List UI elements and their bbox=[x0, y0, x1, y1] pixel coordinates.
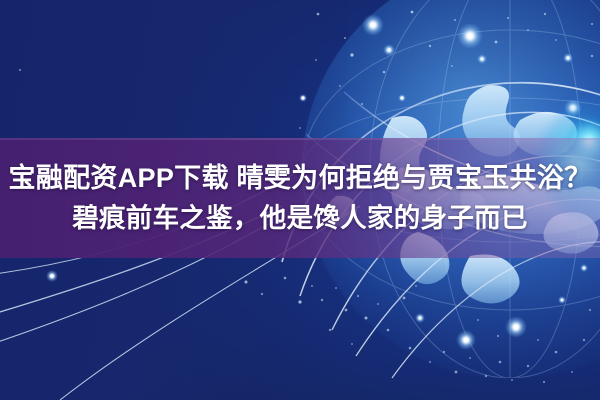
headline-line-2: 碧痕前车之鉴，他是馋人家的身子而已 bbox=[0, 198, 600, 238]
headline-line-1: 宝融配资APP下载 晴雯为何拒绝与贾宝玉共浴？ bbox=[0, 158, 600, 198]
purple-title-band-top-edge bbox=[0, 138, 600, 140]
headline: 宝融配资APP下载 晴雯为何拒绝与贾宝玉共浴？ 碧痕前车之鉴，他是馋人家的身子而… bbox=[0, 158, 600, 238]
banner-image: 宝融配资APP下载 晴雯为何拒绝与贾宝玉共浴？ 碧痕前车之鉴，他是馋人家的身子而… bbox=[0, 0, 600, 400]
